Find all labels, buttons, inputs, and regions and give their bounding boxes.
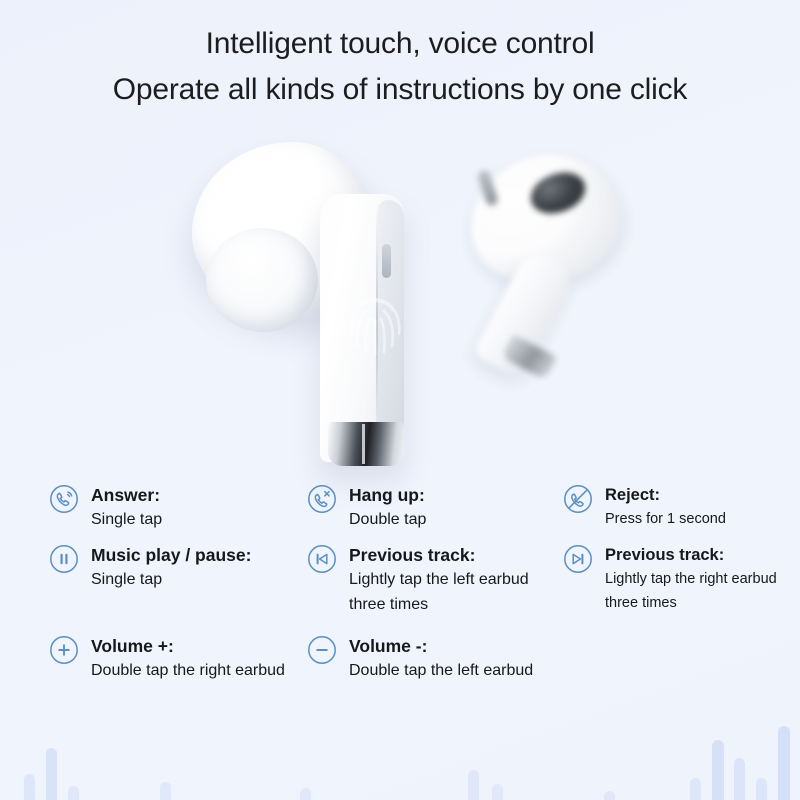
feature-row: Volume +: Double tap the right earbud Vo… bbox=[48, 633, 788, 683]
feature-text: Previous track: Lightly tap the right ea… bbox=[605, 542, 788, 615]
feature-text: Answer: Single tap bbox=[91, 482, 162, 532]
wave-bar bbox=[468, 770, 479, 800]
fingerprint-touch-icon bbox=[344, 284, 406, 356]
feature-title: Previous track: bbox=[349, 545, 475, 565]
wave-bar bbox=[24, 774, 35, 800]
phone-hangup-icon bbox=[306, 483, 338, 515]
feature-text: Music play / pause: Single tap bbox=[91, 542, 251, 592]
wave-bar bbox=[46, 748, 57, 800]
wave-bar bbox=[68, 786, 79, 800]
wave-bar bbox=[300, 788, 311, 800]
waveform-decoration bbox=[0, 720, 800, 800]
feature-item-empty bbox=[562, 633, 788, 683]
feature-text: Hang up: Double tap bbox=[349, 482, 426, 532]
earbud-metal-tip bbox=[328, 422, 404, 466]
feature-title: Hang up: bbox=[349, 485, 425, 505]
play-pause-icon bbox=[48, 543, 80, 575]
feature-item-volume-down[interactable]: Volume -: Double tap the left earbud bbox=[306, 633, 562, 683]
feature-item-play-pause[interactable]: Music play / pause: Single tap bbox=[48, 542, 306, 617]
feature-item-answer[interactable]: Answer: Single tap bbox=[48, 482, 306, 532]
feature-row: Answer: Single tap Hang up: Double tap bbox=[48, 482, 788, 532]
feature-desc: Single tap bbox=[91, 567, 251, 592]
feature-desc: Double tap bbox=[349, 507, 426, 532]
feature-title: Reject: bbox=[605, 486, 660, 504]
feature-list: Answer: Single tap Hang up: Double tap bbox=[48, 482, 788, 683]
feature-desc: Double tap the right earbud bbox=[91, 658, 285, 683]
feature-item-reject[interactable]: Reject: Press for 1 second bbox=[562, 482, 788, 532]
feature-row: Music play / pause: Single tap Previous … bbox=[48, 542, 788, 617]
wave-bar bbox=[604, 791, 615, 800]
wave-bar bbox=[712, 740, 724, 800]
wave-bar bbox=[734, 758, 745, 800]
feature-title: Volume -: bbox=[349, 636, 427, 656]
wave-bar bbox=[160, 782, 171, 800]
wave-bar bbox=[690, 778, 701, 800]
page-subtitle: Operate all kinds of instructions by one… bbox=[0, 70, 800, 110]
feature-text: Volume -: Double tap the left earbud bbox=[349, 633, 533, 683]
earbud-front bbox=[192, 136, 442, 466]
wave-bar bbox=[778, 726, 790, 800]
earbud-microphone-slot bbox=[382, 244, 391, 278]
feature-title: Volume +: bbox=[91, 636, 174, 656]
product-feature-page: Intelligent touch, voice control Operate… bbox=[0, 0, 800, 800]
earbud-back-blurred bbox=[452, 148, 652, 378]
product-photo bbox=[0, 120, 800, 480]
volume-up-icon bbox=[48, 634, 80, 666]
page-title: Intelligent touch, voice control bbox=[0, 24, 800, 64]
feature-title: Answer: bbox=[91, 485, 160, 505]
feature-title: Previous track: bbox=[605, 546, 724, 564]
feature-desc: Double tap the left earbud bbox=[349, 658, 533, 683]
feature-text: Previous track: Lightly tap the left ear… bbox=[349, 542, 562, 617]
feature-desc: Lightly tap the right earbud three times bbox=[605, 567, 788, 615]
feature-item-volume-up[interactable]: Volume +: Double tap the right earbud bbox=[48, 633, 306, 683]
wave-bar bbox=[492, 784, 503, 800]
feature-desc: Lightly tap the left earbud three times bbox=[349, 567, 562, 617]
feature-item-previous-track[interactable]: Previous track: Lightly tap the left ear… bbox=[306, 542, 562, 617]
feature-text: Volume +: Double tap the right earbud bbox=[91, 633, 285, 683]
previous-track-icon bbox=[306, 543, 338, 575]
earbud-front-body-highlight bbox=[206, 228, 318, 332]
next-track-icon bbox=[562, 543, 594, 575]
phone-answer-icon bbox=[48, 483, 80, 515]
feature-title: Music play / pause: bbox=[91, 545, 251, 565]
volume-down-icon bbox=[306, 634, 338, 666]
wave-bar bbox=[756, 778, 767, 800]
feature-item-next-track[interactable]: Previous track: Lightly tap the right ea… bbox=[562, 542, 788, 617]
feature-item-hang-up[interactable]: Hang up: Double tap bbox=[306, 482, 562, 532]
feature-desc: Single tap bbox=[91, 507, 162, 532]
earbud-metal-tip-divider bbox=[362, 424, 365, 464]
feature-desc: Press for 1 second bbox=[605, 507, 726, 531]
phone-reject-icon bbox=[562, 483, 594, 515]
headings-block: Intelligent touch, voice control Operate… bbox=[0, 24, 800, 110]
feature-text: Reject: Press for 1 second bbox=[605, 482, 726, 531]
